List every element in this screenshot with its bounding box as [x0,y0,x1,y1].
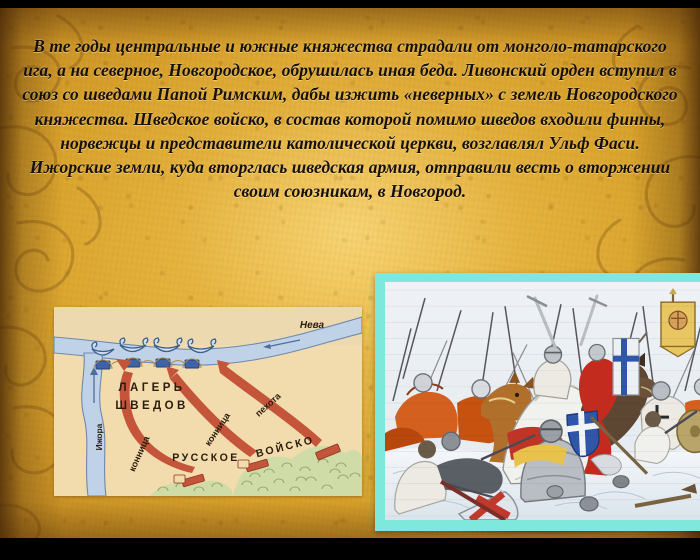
map-label-camp-line1: ЛАГЕРЬ [119,382,186,394]
map-label-russian-army-line1: РУССКОЕ [172,452,239,464]
presentation-slide: В те годы центральные и южные княжества … [0,0,700,560]
map-label-camp-line2: ШВЕДОВ [115,400,188,412]
map-label-neva: Нева [300,320,325,331]
battle-painting-frame [375,273,700,531]
slide-body-text: В те годы центральные и южные княжества … [18,34,682,203]
battle-map-image: Нева Ижора ЛАГЕРЬ ШВЕДОВ пехота конница … [54,307,362,496]
map-label-izhora: Ижора [94,423,104,450]
letterbox-band-top [0,0,700,8]
battle-painting-image [385,282,700,520]
body-paragraph: В те годы центральные и южные княжества … [18,34,682,203]
letterbox-band-bottom [0,538,700,560]
